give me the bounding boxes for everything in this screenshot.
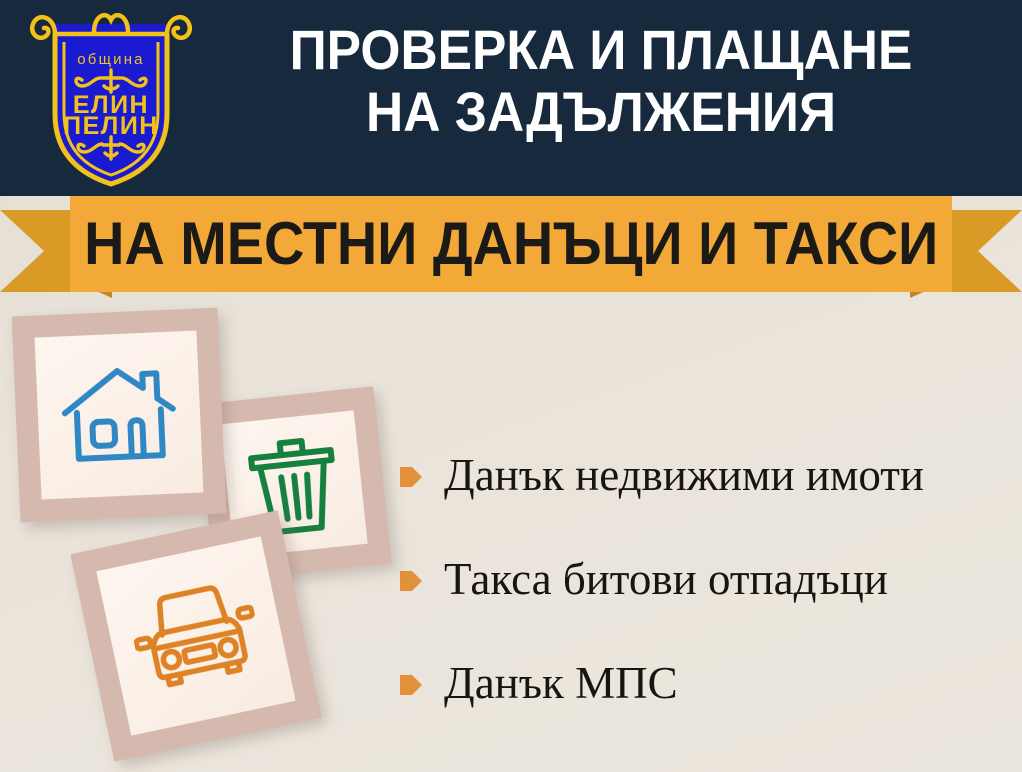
arrow-bullet-icon (400, 569, 422, 593)
tax-type-list: Данък недвижими имоти Такса битови отпад… (400, 424, 1010, 736)
tax-list-item-label: Данък недвижими имоти (444, 452, 924, 499)
page-title: ПРОВЕРКА И ПЛАЩАНЕ НА ЗАДЪЛЖЕНИЯ (228, 20, 973, 143)
ribbon-text: НА МЕСТНИ ДАНЪЦИ И ТАКСИ (84, 214, 938, 274)
logo-name-line2: ПЕЛИН (63, 112, 159, 140)
arrow-bullet-icon (400, 465, 422, 489)
page-title-line-2: НА ЗАДЪЛЖЕНИЯ (228, 82, 973, 142)
tax-list-item[interactable]: Данък МПС (400, 632, 1010, 736)
stamp-card-property-tax (12, 308, 227, 523)
tax-list-item[interactable]: Такса битови отпадъци (400, 528, 1010, 632)
stamp-inner (35, 331, 204, 500)
poster-canvas: община ЕЛИН ПЕЛИН ПРОВЕРКА И ПЛАЩАНЕ НА … (0, 0, 1022, 772)
car-front-icon (125, 574, 267, 698)
stamp-collage (0, 300, 420, 772)
subtitle-ribbon: НА МЕСТНИ ДАНЪЦИ И ТАКСИ (0, 196, 1022, 306)
ribbon-body: НА МЕСТНИ ДАНЪЦИ И ТАКСИ (70, 196, 952, 292)
stamp-inner (96, 536, 295, 735)
arrow-bullet-icon (400, 673, 422, 697)
tax-list-item-label: Данък МПС (444, 660, 678, 707)
logo-top-label: община (77, 51, 144, 68)
tax-list-item[interactable]: Данък недвижими имоти (400, 424, 1010, 528)
crest-icon: община ЕЛИН ПЕЛИН (22, 6, 200, 190)
house-icon (58, 360, 180, 469)
tax-list-item-label: Такса битови отпадъци (444, 556, 888, 603)
stamp-card-vehicle-tax (70, 510, 321, 761)
header-bar: община ЕЛИН ПЕЛИН ПРОВЕРКА И ПЛАЩАНЕ НА … (0, 0, 1022, 196)
page-title-line-1: ПРОВЕРКА И ПЛАЩАНЕ (228, 20, 973, 80)
municipality-logo: община ЕЛИН ПЕЛИН (22, 6, 200, 190)
